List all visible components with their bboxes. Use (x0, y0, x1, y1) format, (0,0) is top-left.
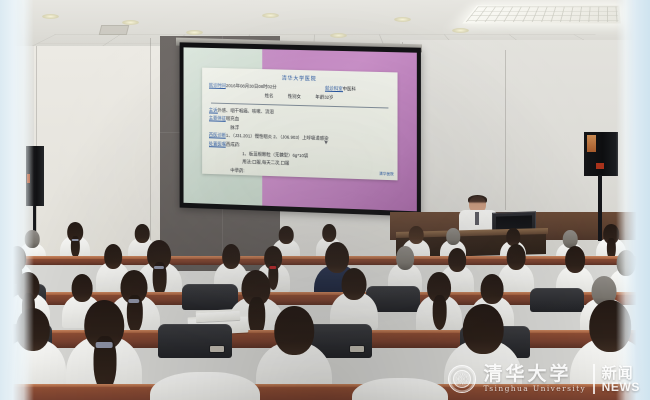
person-head (507, 244, 526, 270)
wall-seam (505, 50, 506, 210)
slide-corner-note: 清华医院 (379, 172, 394, 178)
slide-gender-label: 性别 (288, 93, 297, 98)
lecture-hall-room: 清华大学医院 就诊时间2016年08月30日08时02分 就诊科室中医科 姓名 … (0, 0, 650, 400)
hair-tie (96, 342, 113, 348)
slide-row-label: 主诉 (209, 107, 218, 113)
slide-row-label: 处置医嘱 (209, 141, 226, 147)
watermark-news-en: NEWS (602, 381, 640, 393)
ceiling-light-panel (462, 5, 620, 23)
tsinghua-university-seal-icon (448, 365, 476, 393)
audience-member (352, 360, 448, 400)
ceiling-air-vent (99, 25, 129, 35)
slide-row-value: 咽充血 (226, 116, 239, 121)
slide-department-value: 中医科 (343, 86, 356, 91)
projection-screen-surface: 清华大学医院 就诊时间2016年08月30日08时02分 就诊科室中医科 姓名 … (184, 47, 417, 211)
person-shoulders (150, 372, 260, 400)
slide-name-label: 姓名 (265, 93, 274, 98)
slide-row-label: 中草药: (230, 167, 244, 172)
slide-visit-time-label: 就诊时间 (209, 83, 226, 89)
ceiling-downlight (394, 17, 411, 22)
person-head (322, 224, 336, 242)
person-head (565, 246, 585, 273)
seat-number-tag (350, 346, 364, 352)
person-head (222, 244, 240, 269)
person-head (342, 268, 367, 300)
slide-content-card: 清华大学医院 就诊时间2016年08月30日08时02分 就诊科室中医科 姓名 … (202, 68, 398, 181)
slide-gender-value: 女 (297, 94, 301, 99)
person-head (448, 248, 466, 272)
person-head (409, 226, 424, 244)
audience-member (330, 268, 378, 330)
ceiling-downlight (330, 33, 347, 38)
photograph: 清华大学医院 就诊时间2016年08月30日08时02分 就诊科室中医科 姓名 … (0, 0, 650, 400)
person-head (274, 306, 314, 355)
person-head (463, 304, 504, 354)
watermark: 清华大学 Tsinghua University 新闻 NEWS (448, 364, 640, 394)
slide-age-value: 32岁 (324, 94, 333, 99)
slide-row-value: 西成药: (226, 142, 240, 147)
audience-member (66, 300, 142, 396)
speaker-badge (27, 174, 30, 183)
slide-row-label: 西医诊断 (209, 133, 226, 139)
slide-age-label: 年龄 (315, 94, 324, 99)
slide-row-value: 1、板蓝根颗粒（无糖型）6g*10袋 (242, 151, 308, 158)
person-head (446, 228, 460, 245)
wall-speaker-right (584, 132, 618, 176)
slide-row-value: 外感、咽干咽痛、咳嗽、流泪 (217, 107, 273, 114)
person-head (481, 274, 504, 304)
hair-tie (72, 239, 79, 241)
audience-member (60, 222, 90, 260)
watermark-university-en: Tsinghua University (483, 385, 586, 393)
person-head (279, 226, 294, 244)
ceiling-downlight (262, 13, 279, 18)
speaker-driver (587, 135, 596, 152)
person-head (396, 246, 414, 270)
person-head (16, 308, 50, 351)
projection-screen: 清华大学医院 就诊时间2016年08月30日08时02分 就诊科室中医科 姓名 … (180, 42, 421, 216)
audience-member (0, 308, 66, 390)
slide-visit-time-value: 2016年08月30日08时02分 (226, 83, 277, 89)
watermark-news-cn: 新闻 (602, 366, 640, 381)
ceiling-downlight (186, 30, 203, 35)
person-head (617, 250, 636, 276)
slide-row-value: 1、（J31.201）慢性咽炎 2、（J06.903）上呼吸道感染 (226, 133, 329, 141)
slide-department-label: 就诊科室 (325, 86, 343, 92)
watermark-news: 新闻 NEWS (602, 366, 640, 393)
person-head (589, 300, 631, 352)
watermark-university: 清华大学 Tsinghua University (483, 365, 586, 393)
speaker-badge (596, 163, 604, 169)
person-shoulders (352, 378, 448, 400)
slide-row-value: 脉浮 (230, 125, 239, 130)
person-head (104, 244, 122, 269)
slide-row-value: 用法:口服,每天二次,口服 (242, 159, 289, 166)
slide-row-label: 主要体征 (209, 116, 226, 122)
slide-patient-row: 姓名 性别女 年龄32岁 (209, 91, 391, 102)
audience-member (150, 350, 260, 400)
watermark-divider (593, 364, 594, 394)
watermark-university-cn: 清华大学 (483, 365, 586, 385)
hair-tie (269, 266, 276, 269)
hair-tie (154, 266, 164, 269)
ceiling-downlight (452, 28, 469, 33)
person-head (72, 274, 93, 302)
wall-speaker-left (26, 146, 44, 206)
ceiling-downlight (42, 14, 59, 19)
